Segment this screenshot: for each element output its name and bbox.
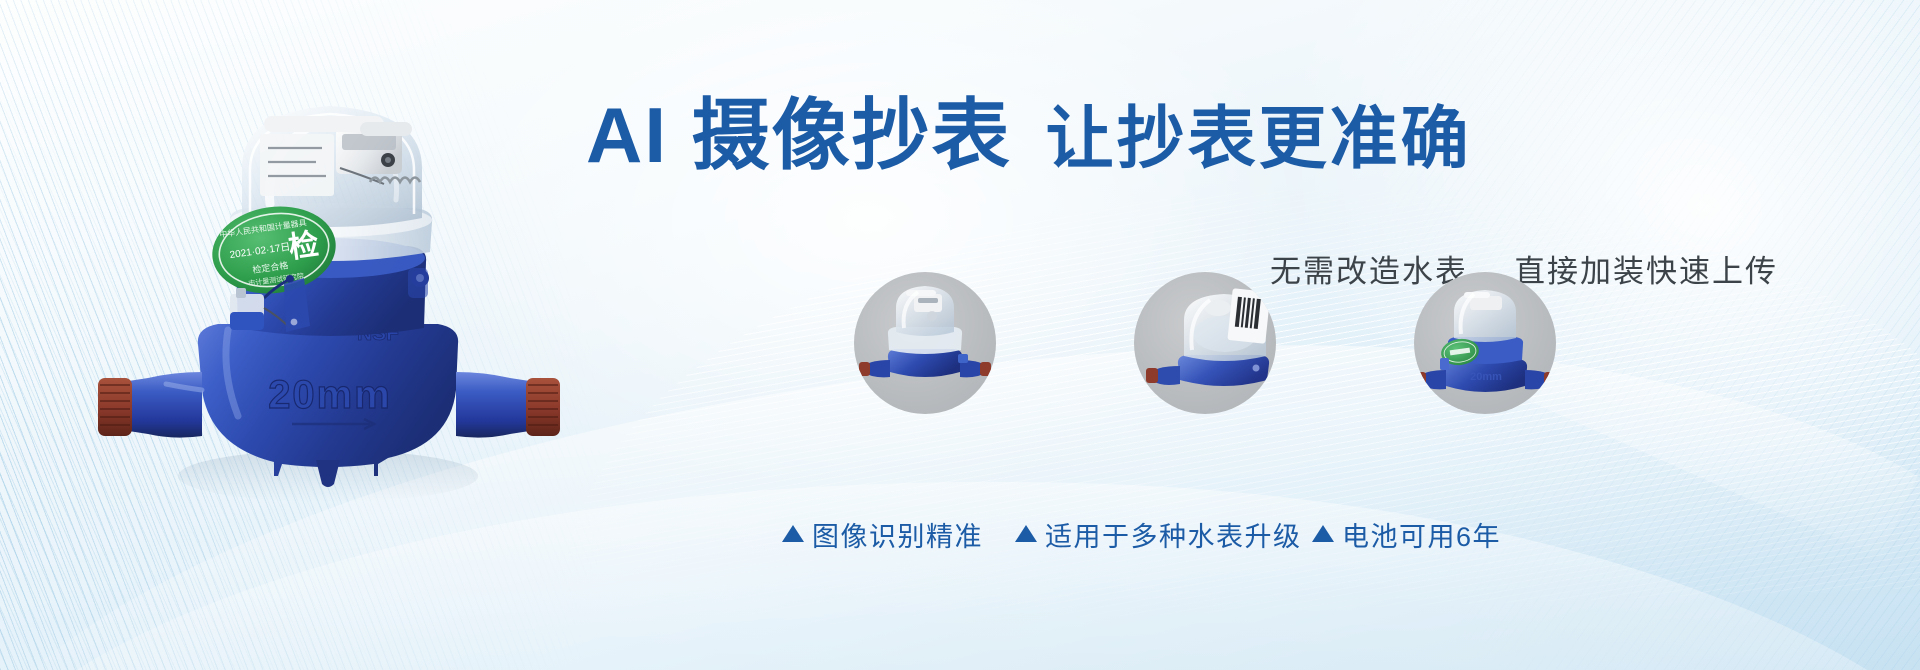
feature-caption-2-label: 适用于多种水表升级 <box>1045 515 1302 554</box>
feature-thumbnail-1[interactable] <box>854 272 996 414</box>
promo-banner: 20mm NSF <box>0 0 1920 670</box>
svg-text:20mm: 20mm <box>1470 371 1502 383</box>
triangle-bullet-icon <box>1015 525 1037 542</box>
feature-item-1[interactable] <box>800 272 1050 414</box>
feature-caption-1: 图像识别精准 <box>782 515 983 554</box>
feature-thumbnail-row: 20mm <box>790 272 1890 542</box>
feature-thumbnail-3[interactable]: 20mm <box>1414 272 1556 414</box>
triangle-bullet-icon <box>1312 525 1334 542</box>
feature-caption-3-label: 电池可用6年 <box>1342 515 1501 554</box>
feature-thumbnail-2[interactable] <box>1134 272 1276 414</box>
triangle-bullet-icon <box>782 525 804 542</box>
headline: AI 摄像抄表 让抄表更准确 <box>586 96 1472 174</box>
headline-secondary: 让抄表更准确 <box>1046 105 1472 173</box>
headline-primary: AI 摄像抄表 <box>586 96 1012 174</box>
feature-item-3[interactable]: 20mm <box>1360 272 1610 414</box>
feature-caption-3: 电池可用6年 <box>1312 515 1501 554</box>
feature-item-2[interactable] <box>1080 272 1330 414</box>
feature-caption-row: 图像识别精准 适用于多种水表升级 电池可用6年 <box>760 515 1920 563</box>
feature-caption-2: 适用于多种水表升级 <box>1015 515 1302 554</box>
feature-caption-1-label: 图像识别精准 <box>812 515 983 554</box>
